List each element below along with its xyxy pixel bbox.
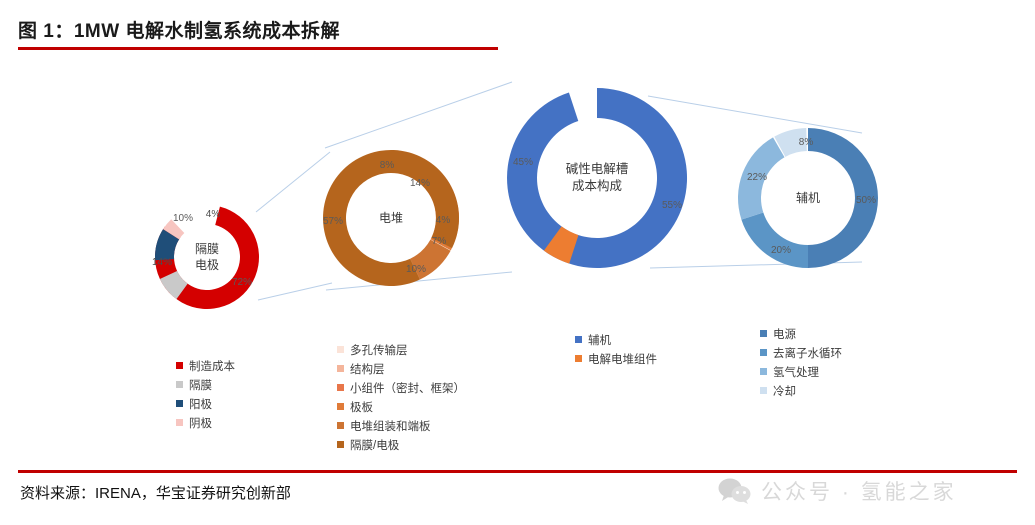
legend-item[interactable]: 小组件（密封、框架） — [337, 378, 465, 397]
slice-label-2: 4% — [436, 215, 451, 226]
legend-label-5: 隔膜/电极 — [350, 437, 399, 453]
donut-chart-balance-of-plant: 50% 20% 22% 8% 辅机 — [730, 120, 886, 276]
legend-swatch-2 — [760, 368, 767, 375]
slice-label-5: 57% — [323, 216, 343, 227]
slice-label-0: 50% — [856, 195, 876, 206]
legend-label-0: 制造成本 — [189, 358, 235, 374]
legend-swatch-0 — [760, 330, 767, 337]
source-note: 资料来源：IRENA，华宝证券研究创新部 — [20, 482, 291, 503]
legend-label-2: 氢气处理 — [773, 364, 819, 380]
legend-label-1: 结构层 — [350, 361, 385, 377]
legend-label-0: 辅机 — [588, 332, 611, 348]
slice-label-1: 45% — [513, 157, 533, 168]
legend-stack: 多孔传输层 结构层 小组件（密封、框架） 极板 电堆组装和端板 隔膜/电极 — [337, 340, 465, 454]
legend-item[interactable]: 电源 — [760, 324, 842, 343]
legend-label-0: 多孔传输层 — [350, 342, 408, 358]
legend-label-1: 去离子水循环 — [773, 345, 842, 361]
slice-label-1: 20% — [771, 245, 791, 256]
legend-swatch-1 — [760, 349, 767, 356]
figure-canvas: 图 1：1MW 电解水制氢系统成本拆解 — [0, 0, 1035, 525]
slice-label-0: 72% — [232, 277, 252, 288]
slice-label-0: 55% — [662, 200, 682, 211]
legend-label-2: 阳极 — [189, 396, 212, 412]
legend-item[interactable]: 去离子水循环 — [760, 343, 842, 362]
legend-label-4: 电堆组装和端板 — [350, 418, 431, 434]
legend-item[interactable]: 极板 — [337, 397, 465, 416]
legend-swatch-3 — [337, 403, 344, 410]
legend-item[interactable]: 多孔传输层 — [337, 340, 465, 359]
footer-divider — [18, 470, 1017, 473]
legend-item[interactable]: 冷却 — [760, 381, 842, 400]
slice-label-0: 8% — [380, 160, 395, 171]
legend-swatch-2 — [337, 384, 344, 391]
legend-swatch-0 — [575, 336, 582, 343]
legend-membrane-electrode: 制造成本 隔膜 阳极 阴极 — [176, 356, 235, 432]
slice-label-1: 14% — [152, 257, 172, 268]
legend-swatch-1 — [575, 355, 582, 362]
legend-swatch-5 — [337, 441, 344, 448]
slice-label-4: 10% — [406, 264, 426, 275]
legend-swatch-0 — [337, 346, 344, 353]
legend-item[interactable]: 辅机 — [575, 330, 657, 349]
donut-chart-membrane-electrode: 72% 14% 10% 4% 隔膜 电极 — [148, 198, 266, 316]
legend-swatch-3 — [176, 419, 183, 426]
legend-swatch-1 — [337, 365, 344, 372]
pie-slice-1[interactable] — [741, 213, 808, 268]
legend-balance-of-plant: 电源 去离子水循环 氢气处理 冷却 — [760, 324, 842, 400]
legend-item[interactable]: 电堆组装和端板 — [337, 416, 465, 435]
legend-label-3: 极板 — [350, 399, 373, 415]
legend-label-3: 阴极 — [189, 415, 212, 431]
legend-item[interactable]: 结构层 — [337, 359, 465, 378]
pie-slice-0[interactable] — [507, 88, 687, 268]
slice-label-2: 10% — [173, 213, 193, 224]
legend-label-1: 电解电堆组件 — [588, 351, 657, 367]
legend-item[interactable]: 氢气处理 — [760, 362, 842, 381]
slice-label-3: 7% — [432, 236, 447, 247]
legend-item[interactable]: 阴极 — [176, 413, 235, 432]
legend-item[interactable]: 制造成本 — [176, 356, 235, 375]
legend-item[interactable]: 电解电堆组件 — [575, 349, 657, 368]
slice-label-3: 4% — [206, 209, 221, 220]
legend-label-3: 冷却 — [773, 383, 796, 399]
legend-label-1: 隔膜 — [189, 377, 212, 393]
legend-label-0: 电源 — [773, 326, 796, 342]
slice-label-2: 22% — [747, 172, 767, 183]
legend-swatch-4 — [337, 422, 344, 429]
legend-swatch-2 — [176, 400, 183, 407]
legend-item[interactable]: 隔膜 — [176, 375, 235, 394]
legend-label-2: 小组件（密封、框架） — [350, 380, 465, 396]
legend-swatch-3 — [760, 387, 767, 394]
legend-swatch-0 — [176, 362, 183, 369]
donut-chart-stack: 8% 14% 4% 7% 10% 57% 电堆 — [315, 142, 467, 294]
slice-label-1: 14% — [410, 178, 430, 189]
slice-label-3: 8% — [799, 137, 814, 148]
legend-alkaline-electrolyzer: 辅机 电解电堆组件 — [575, 330, 657, 368]
legend-swatch-1 — [176, 381, 183, 388]
donut-chart-alkaline-electrolyzer: 55% 45% 碱性电解槽 成本构成 — [497, 78, 697, 278]
legend-item[interactable]: 阳极 — [176, 394, 235, 413]
legend-item[interactable]: 隔膜/电极 — [337, 435, 465, 454]
